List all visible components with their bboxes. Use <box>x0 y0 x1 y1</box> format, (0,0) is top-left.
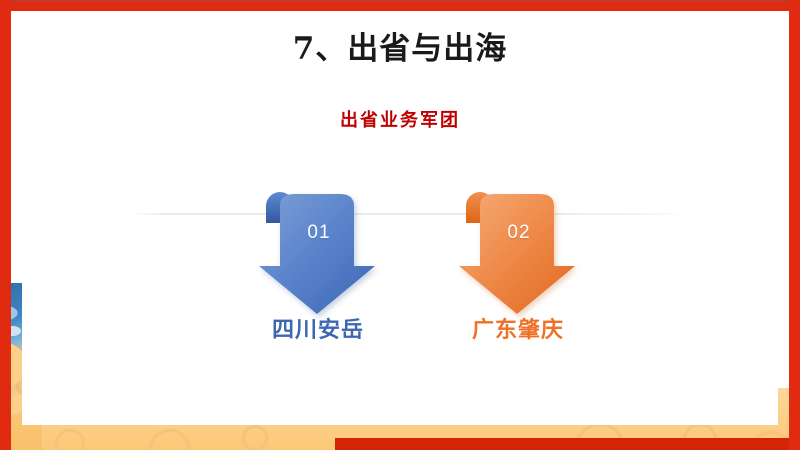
down-arrow-icon-blue <box>232 190 392 320</box>
slide: 7、出省与出海 出省业务军团 <box>0 0 800 450</box>
arrow-region-label: 广东肇庆 <box>432 312 592 344</box>
arrow-item-01[interactable]: 01 四川安岳 <box>232 190 392 350</box>
down-arrow-icon-orange <box>432 190 592 320</box>
arrow-region-label: 四川安岳 <box>232 312 392 344</box>
arrow-item-02[interactable]: 02 广东肇庆 <box>432 190 592 350</box>
arrow-group: 01 四川安岳 <box>0 0 800 450</box>
arrow-number-label: 01 <box>232 222 392 244</box>
arrow-number-label: 02 <box>432 222 592 244</box>
slide-content: 7、出省与出海 出省业务军团 <box>0 0 800 450</box>
